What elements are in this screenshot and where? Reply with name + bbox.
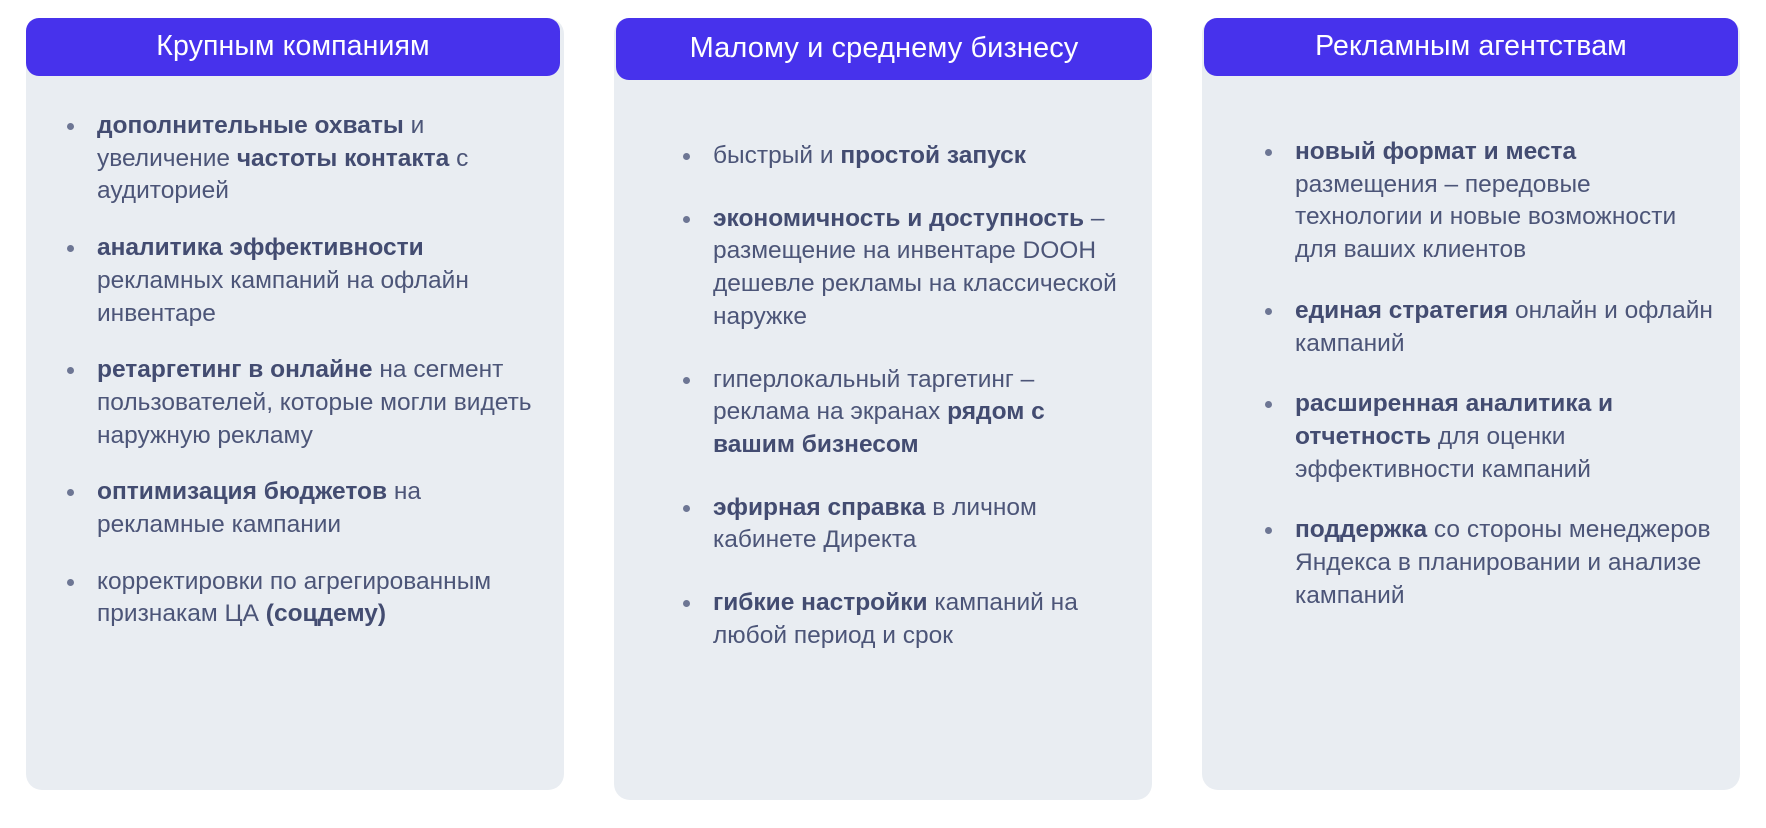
bullet-text: единая стратегия онлайн и офлайн кампани…: [1295, 295, 1718, 360]
benefit-card-large-companies: Крупным компаниям дополнительные охваты …: [26, 18, 564, 790]
bullet-item: гиперлокальный таргетинг – реклама на эк…: [678, 364, 1128, 462]
bullet-text: дополнительные охваты и увеличение часто…: [97, 110, 534, 208]
bullet-item: быстрый и простой запуск: [678, 140, 1128, 173]
bullet-text: ретаргетинг в онлайне на сегмент пользов…: [97, 354, 534, 452]
bullet-text: экономичность и доступность – размещение…: [713, 203, 1128, 334]
card-header-ad-agencies: Рекламным агентствам: [1204, 18, 1738, 76]
card-header-small-medium-business: Малому и среднему бизнесу: [616, 18, 1152, 80]
card-body-large-companies: дополнительные охваты и увеличение часто…: [26, 110, 564, 631]
bullet-text: корректировки по агрегированным признака…: [97, 566, 534, 631]
bullet-text: расширенная аналитика и отчетность для о…: [1295, 388, 1718, 486]
bullet-item: новый формат и места размещения – передо…: [1260, 136, 1718, 267]
bullet-text: эфирная справка в личном кабинете Директ…: [713, 492, 1128, 557]
bullet-item: ретаргетинг в онлайне на сегмент пользов…: [62, 354, 534, 452]
bullet-list-ad-agencies: новый формат и места размещения – передо…: [1260, 136, 1718, 612]
card-body-ad-agencies: новый формат и места размещения – передо…: [1202, 136, 1740, 612]
bullet-item: корректировки по агрегированным признака…: [62, 566, 534, 631]
bullet-text: гибкие настройки кампаний на любой перио…: [713, 587, 1128, 652]
benefit-card-ad-agencies: Рекламным агентствам новый формат и мест…: [1202, 18, 1740, 790]
bullet-item: поддержка со стороны менеджеров Яндекса …: [1260, 514, 1718, 612]
bullet-list-large-companies: дополнительные охваты и увеличение часто…: [62, 110, 534, 631]
bullet-item: единая стратегия онлайн и офлайн кампани…: [1260, 295, 1718, 360]
bullet-text: гиперлокальный таргетинг – реклама на эк…: [713, 364, 1128, 462]
card-title-large-companies: Крупным компаниям: [156, 31, 429, 62]
bullet-item: дополнительные охваты и увеличение часто…: [62, 110, 534, 208]
bullet-item: экономичность и доступность – размещение…: [678, 203, 1128, 334]
card-body-small-medium-business: быстрый и простой запускэкономичность и …: [614, 140, 1152, 652]
bullet-item: гибкие настройки кампаний на любой перио…: [678, 587, 1128, 652]
benefits-columns-board: Крупным компаниям дополнительные охваты …: [0, 0, 1766, 828]
benefit-card-small-medium-business: Малому и среднему бизнесу быстрый и прос…: [614, 18, 1152, 800]
bullet-text: быстрый и простой запуск: [713, 140, 1128, 173]
bullet-item: оптимизация бюджетов на рекламные кампан…: [62, 476, 534, 541]
bullet-item: расширенная аналитика и отчетность для о…: [1260, 388, 1718, 486]
bullet-item: аналитика эффективности рекламных кампан…: [62, 232, 534, 330]
bullet-list-small-medium-business: быстрый и простой запускэкономичность и …: [678, 140, 1128, 652]
bullet-item: эфирная справка в личном кабинете Директ…: [678, 492, 1128, 557]
card-title-small-medium-business: Малому и среднему бизнесу: [690, 33, 1079, 65]
bullet-text: аналитика эффективности рекламных кампан…: [97, 232, 534, 330]
card-title-ad-agencies: Рекламным агентствам: [1315, 31, 1627, 62]
bullet-text: новый формат и места размещения – передо…: [1295, 136, 1718, 267]
card-header-large-companies: Крупным компаниям: [26, 18, 560, 76]
bullet-text: оптимизация бюджетов на рекламные кампан…: [97, 476, 534, 541]
bullet-text: поддержка со стороны менеджеров Яндекса …: [1295, 514, 1718, 612]
